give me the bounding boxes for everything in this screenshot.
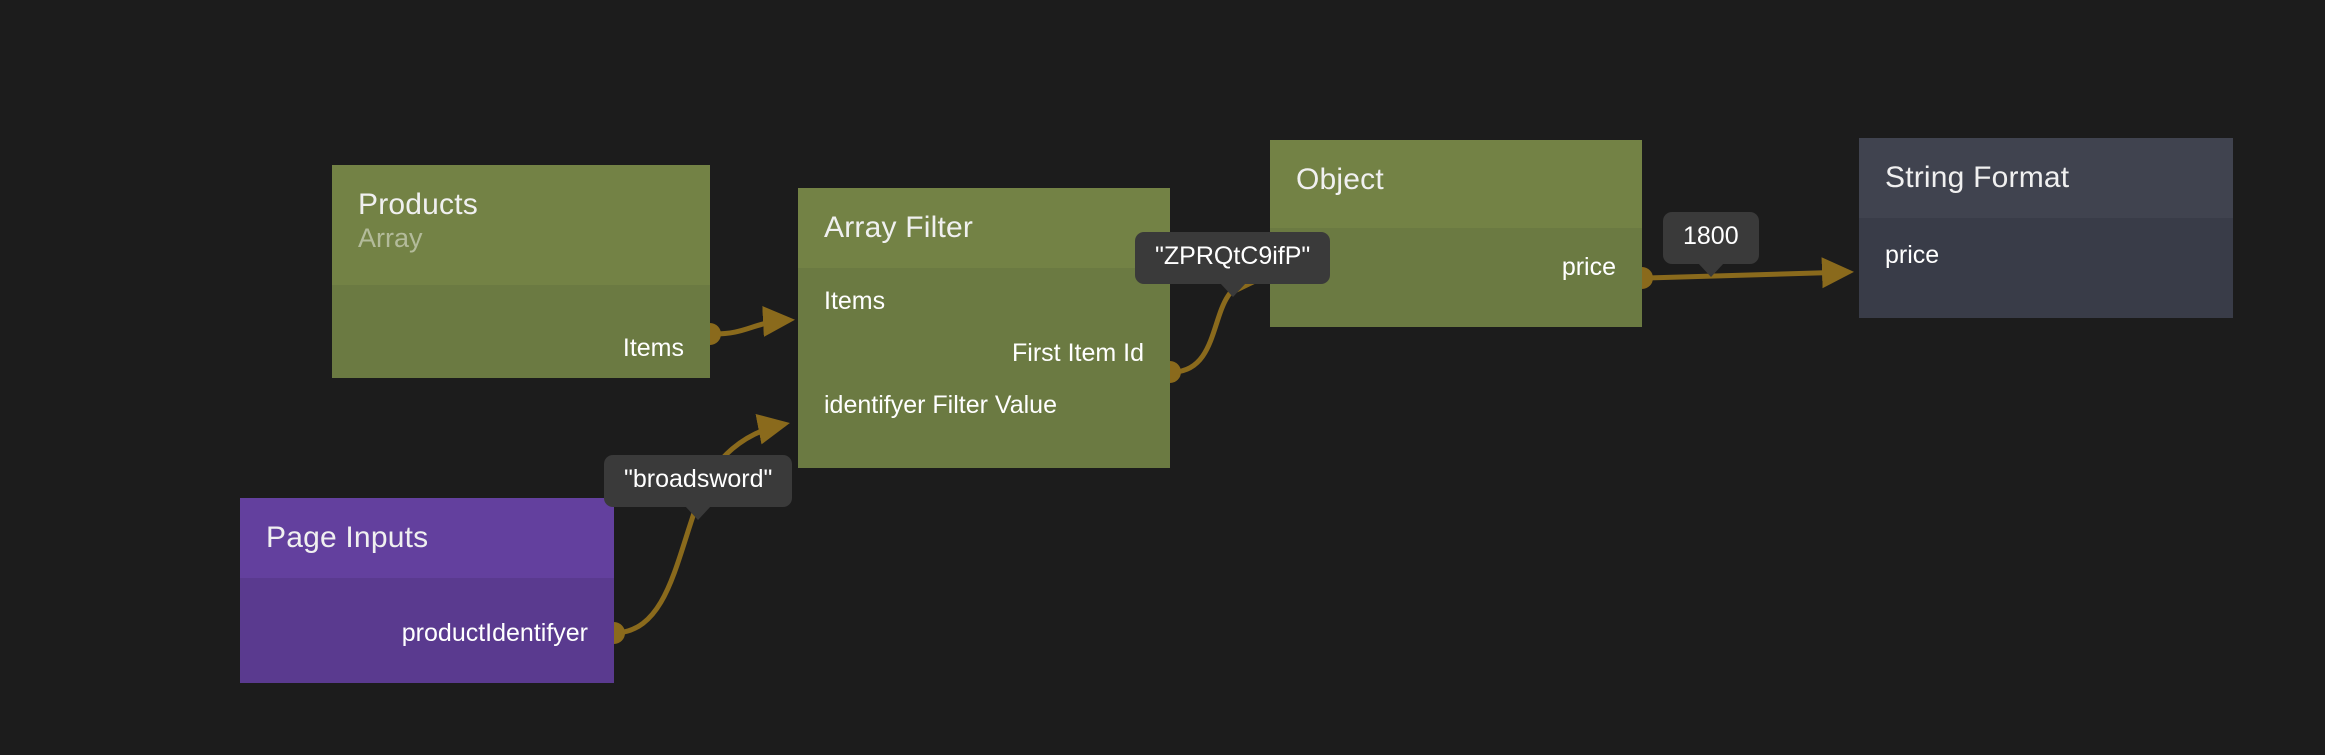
price-value-tooltip: 1800 bbox=[1663, 212, 1759, 264]
node-graph-canvas[interactable]: Products Array Items Array Filter Items … bbox=[0, 0, 2325, 755]
port-object-price[interactable]: price bbox=[1562, 252, 1616, 282]
node-page-inputs-title: Page Inputs bbox=[266, 520, 588, 555]
port-label-identifyer-filter-value: identifyer Filter Value bbox=[824, 391, 1057, 420]
edge-object-price-to-stringformat-price bbox=[1631, 267, 1849, 289]
node-array-filter-header: Array Filter bbox=[798, 188, 1170, 268]
node-products-body: Items bbox=[332, 285, 710, 378]
price-value-tooltip-text: 1800 bbox=[1683, 222, 1739, 250]
port-label-first-item-id: First Item Id bbox=[1012, 339, 1144, 368]
identifyer-value-tooltip: "broadsword" bbox=[604, 455, 792, 507]
tooltip-tail-icon bbox=[1698, 263, 1724, 277]
node-page-inputs-header: Page Inputs bbox=[240, 498, 614, 578]
port-label-price: price bbox=[1885, 241, 1939, 270]
port-label-price: price bbox=[1562, 253, 1616, 282]
port-label-items: Items bbox=[623, 334, 684, 363]
id-value-tooltip-text: "ZPRQtC9ifP" bbox=[1155, 242, 1310, 270]
node-object-header: Object bbox=[1270, 140, 1642, 228]
node-page-inputs-body: productIdentifyer bbox=[240, 578, 614, 683]
node-array-filter-body: Items First Item Id identifyer Filter Va… bbox=[798, 268, 1170, 468]
node-array-filter[interactable]: Array Filter Items First Item Id identif… bbox=[798, 188, 1170, 468]
port-array-filter-items[interactable]: Items bbox=[824, 286, 885, 316]
port-label-items: Items bbox=[824, 287, 885, 316]
tooltip-tail-icon bbox=[1220, 283, 1246, 297]
port-array-filter-first-item-id[interactable]: First Item Id bbox=[1012, 338, 1144, 368]
id-value-tooltip: "ZPRQtC9ifP" bbox=[1135, 232, 1330, 284]
port-page-inputs-product-identifyer[interactable]: productIdentifyer bbox=[402, 618, 588, 648]
node-array-filter-title: Array Filter bbox=[824, 210, 1144, 245]
node-products-header: Products Array bbox=[332, 165, 710, 285]
edge-products-items-to-filter-items bbox=[699, 320, 790, 345]
node-object-title: Object bbox=[1296, 162, 1616, 197]
node-page-inputs[interactable]: Page Inputs productIdentifyer bbox=[240, 498, 614, 683]
node-products-title: Products bbox=[358, 187, 684, 222]
node-string-format-header: String Format bbox=[1859, 138, 2233, 218]
node-products-subtitle: Array bbox=[358, 222, 684, 254]
tooltip-tail-icon bbox=[685, 506, 711, 520]
port-label-product-identifyer: productIdentifyer bbox=[402, 619, 588, 648]
node-products[interactable]: Products Array Items bbox=[332, 165, 710, 378]
port-products-items[interactable]: Items bbox=[623, 333, 684, 363]
node-string-format[interactable]: String Format price bbox=[1859, 138, 2233, 318]
edge-filter-firstitemid-to-object-id bbox=[1159, 277, 1262, 383]
identifyer-value-tooltip-text: "broadsword" bbox=[624, 465, 772, 493]
node-string-format-title: String Format bbox=[1885, 160, 2207, 195]
node-string-format-body: price bbox=[1859, 218, 2233, 318]
port-array-filter-identifyer-filter-value[interactable]: identifyer Filter Value bbox=[824, 390, 1057, 420]
port-string-format-price[interactable]: price bbox=[1885, 240, 1939, 270]
